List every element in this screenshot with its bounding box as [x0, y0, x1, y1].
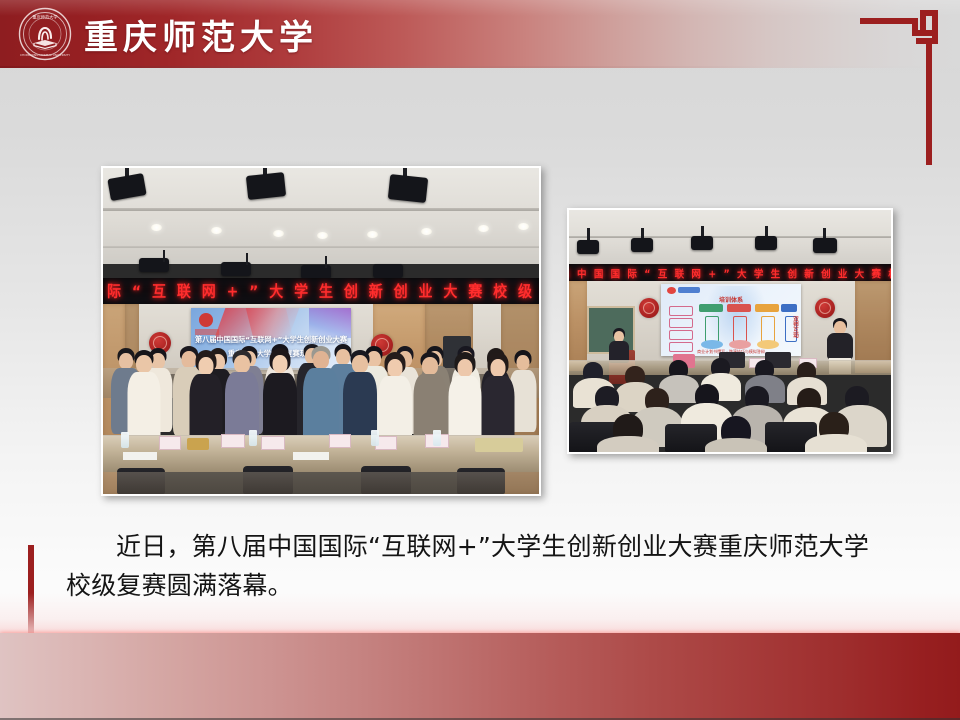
- university-crest-icon: 重庆师范大学 CHONGQING NORMAL UNIVERSITY: [18, 7, 72, 61]
- university-name-title: 重庆师范大学: [84, 8, 318, 60]
- chinese-corner-ornament-icon-top-right: [860, 10, 938, 170]
- presentation-slide: 重庆师范大学 CHONGQING NORMAL UNIVERSITY 重庆师范大…: [0, 0, 960, 720]
- screen-title-text: 培训体系: [661, 295, 801, 304]
- projector-screen-right-photo: 培训体系 商业计划书撰写 · 路演技巧与模拟答辩: [661, 284, 801, 356]
- led-banner-left-photo: 国 国 际 “ 互 联 网 + ” 大 学 生 创 新 创 业 大 赛 校 级 …: [103, 278, 539, 304]
- led-banner-right-photo: 八 届 中 国 国 际 “ 互 联 网 + ” 大 学 生 创 新 创 业 大 …: [569, 264, 891, 281]
- bottom-band: [0, 633, 960, 720]
- bottom-band-fade: [0, 593, 960, 633]
- svg-text:重庆师范大学: 重庆师范大学: [32, 14, 57, 21]
- header-bottom-edge: [0, 66, 960, 68]
- group-photo-contest-participants: 国 国 际 “ 互 联 网 + ” 大 学 生 创 新 创 业 大 赛 校 级 …: [101, 166, 541, 496]
- screen-side-label: 双师互动: [791, 316, 799, 338]
- svg-text:CHONGQING NORMAL UNIVERSITY: CHONGQING NORMAL UNIVERSITY: [20, 53, 70, 57]
- audience-photo-contest-venue: 八 届 中 国 国 际 “ 互 联 网 + ” 大 学 生 创 新 创 业 大 …: [567, 208, 893, 454]
